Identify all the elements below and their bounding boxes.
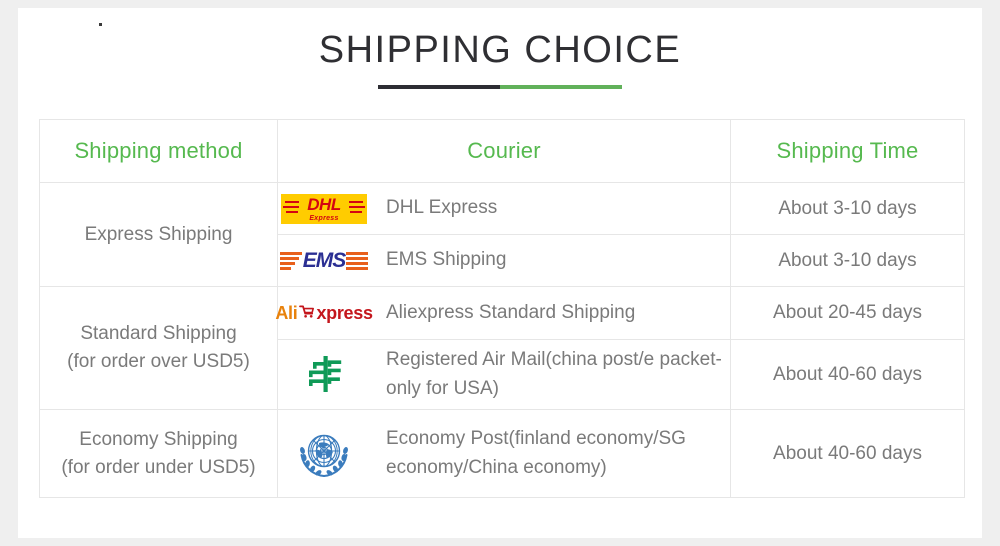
table-row: Standard Shipping (for order over USD5) … bbox=[40, 287, 965, 340]
shipping-choice-banner: SHIPPING CHOICE Shipping method Courier … bbox=[0, 0, 1000, 546]
shipping-time-value: About 3-10 days bbox=[731, 235, 965, 287]
page-title: SHIPPING CHOICE bbox=[18, 30, 982, 71]
courier-cell-economy-post: Economy Post(finland economy/SG economy/… bbox=[278, 410, 731, 498]
table-row: Express Shipping DHL Express bbox=[40, 183, 965, 235]
shopping-cart-icon bbox=[299, 303, 315, 324]
method-subtitle: (for order under USD5) bbox=[40, 454, 277, 482]
ems-wordmark: EMS bbox=[302, 249, 347, 273]
table-row: Economy Shipping (for order under USD5) bbox=[40, 410, 965, 498]
courier-cell-dhl: DHL Express DHL Express bbox=[278, 183, 731, 235]
shipping-time-value: About 3-10 days bbox=[731, 183, 965, 235]
method-express-shipping: Express Shipping bbox=[40, 183, 278, 287]
header-shipping-time: Shipping Time bbox=[731, 120, 965, 183]
aliexpress-logo: Ali xpress bbox=[278, 303, 370, 324]
courier-name: Aliexpress Standard Shipping bbox=[386, 299, 635, 328]
shipping-time-value: About 40-60 days bbox=[731, 410, 965, 498]
shipping-time-value: About 20-45 days bbox=[731, 287, 965, 340]
table-header-row: Shipping method Courier Shipping Time bbox=[40, 120, 965, 183]
courier-name: Registered Air Mail(china post/e packet-… bbox=[386, 346, 730, 403]
courier-name: DHL Express bbox=[386, 194, 497, 223]
shipping-time-value: About 40-60 days bbox=[731, 340, 965, 410]
courier-cell-ems: EMS EMS Shipping bbox=[278, 235, 731, 287]
title-underline bbox=[378, 85, 622, 89]
courier-name: EMS Shipping bbox=[386, 246, 506, 275]
method-title: Economy Shipping bbox=[40, 426, 277, 454]
china-post-logo bbox=[278, 352, 370, 398]
header-courier: Courier bbox=[278, 120, 731, 183]
ems-logo: EMS bbox=[278, 246, 370, 276]
method-standard-shipping: Standard Shipping (for order over USD5) bbox=[40, 287, 278, 410]
courier-name: Economy Post(finland economy/SG economy/… bbox=[386, 425, 730, 482]
courier-cell-aliexpress: Ali xpress bbox=[278, 287, 731, 340]
dhl-logo: DHL Express bbox=[278, 194, 370, 224]
method-subtitle: (for order over USD5) bbox=[40, 348, 277, 376]
aliexpress-wordmark-ali: Ali bbox=[275, 303, 297, 324]
aliexpress-wordmark-xpress: xpress bbox=[316, 303, 372, 324]
title-underline-dark-segment bbox=[378, 85, 500, 89]
courier-cell-china-post: Registered Air Mail(china post/e packet-… bbox=[278, 340, 731, 410]
title-underline-green-segment bbox=[500, 85, 622, 89]
dhl-express-subtext: Express bbox=[281, 215, 367, 222]
method-economy-shipping: Economy Shipping (for order under USD5) bbox=[40, 410, 278, 498]
title-block: SHIPPING CHOICE bbox=[18, 30, 982, 89]
dhl-wordmark: DHL bbox=[281, 195, 367, 215]
content-card: SHIPPING CHOICE Shipping method Courier … bbox=[18, 8, 982, 538]
method-title: Standard Shipping bbox=[40, 320, 277, 348]
image-artifact-dot bbox=[99, 23, 102, 26]
un-logo bbox=[278, 425, 370, 483]
header-shipping-method: Shipping method bbox=[40, 120, 278, 183]
shipping-table: Shipping method Courier Shipping Time Ex… bbox=[39, 119, 965, 498]
